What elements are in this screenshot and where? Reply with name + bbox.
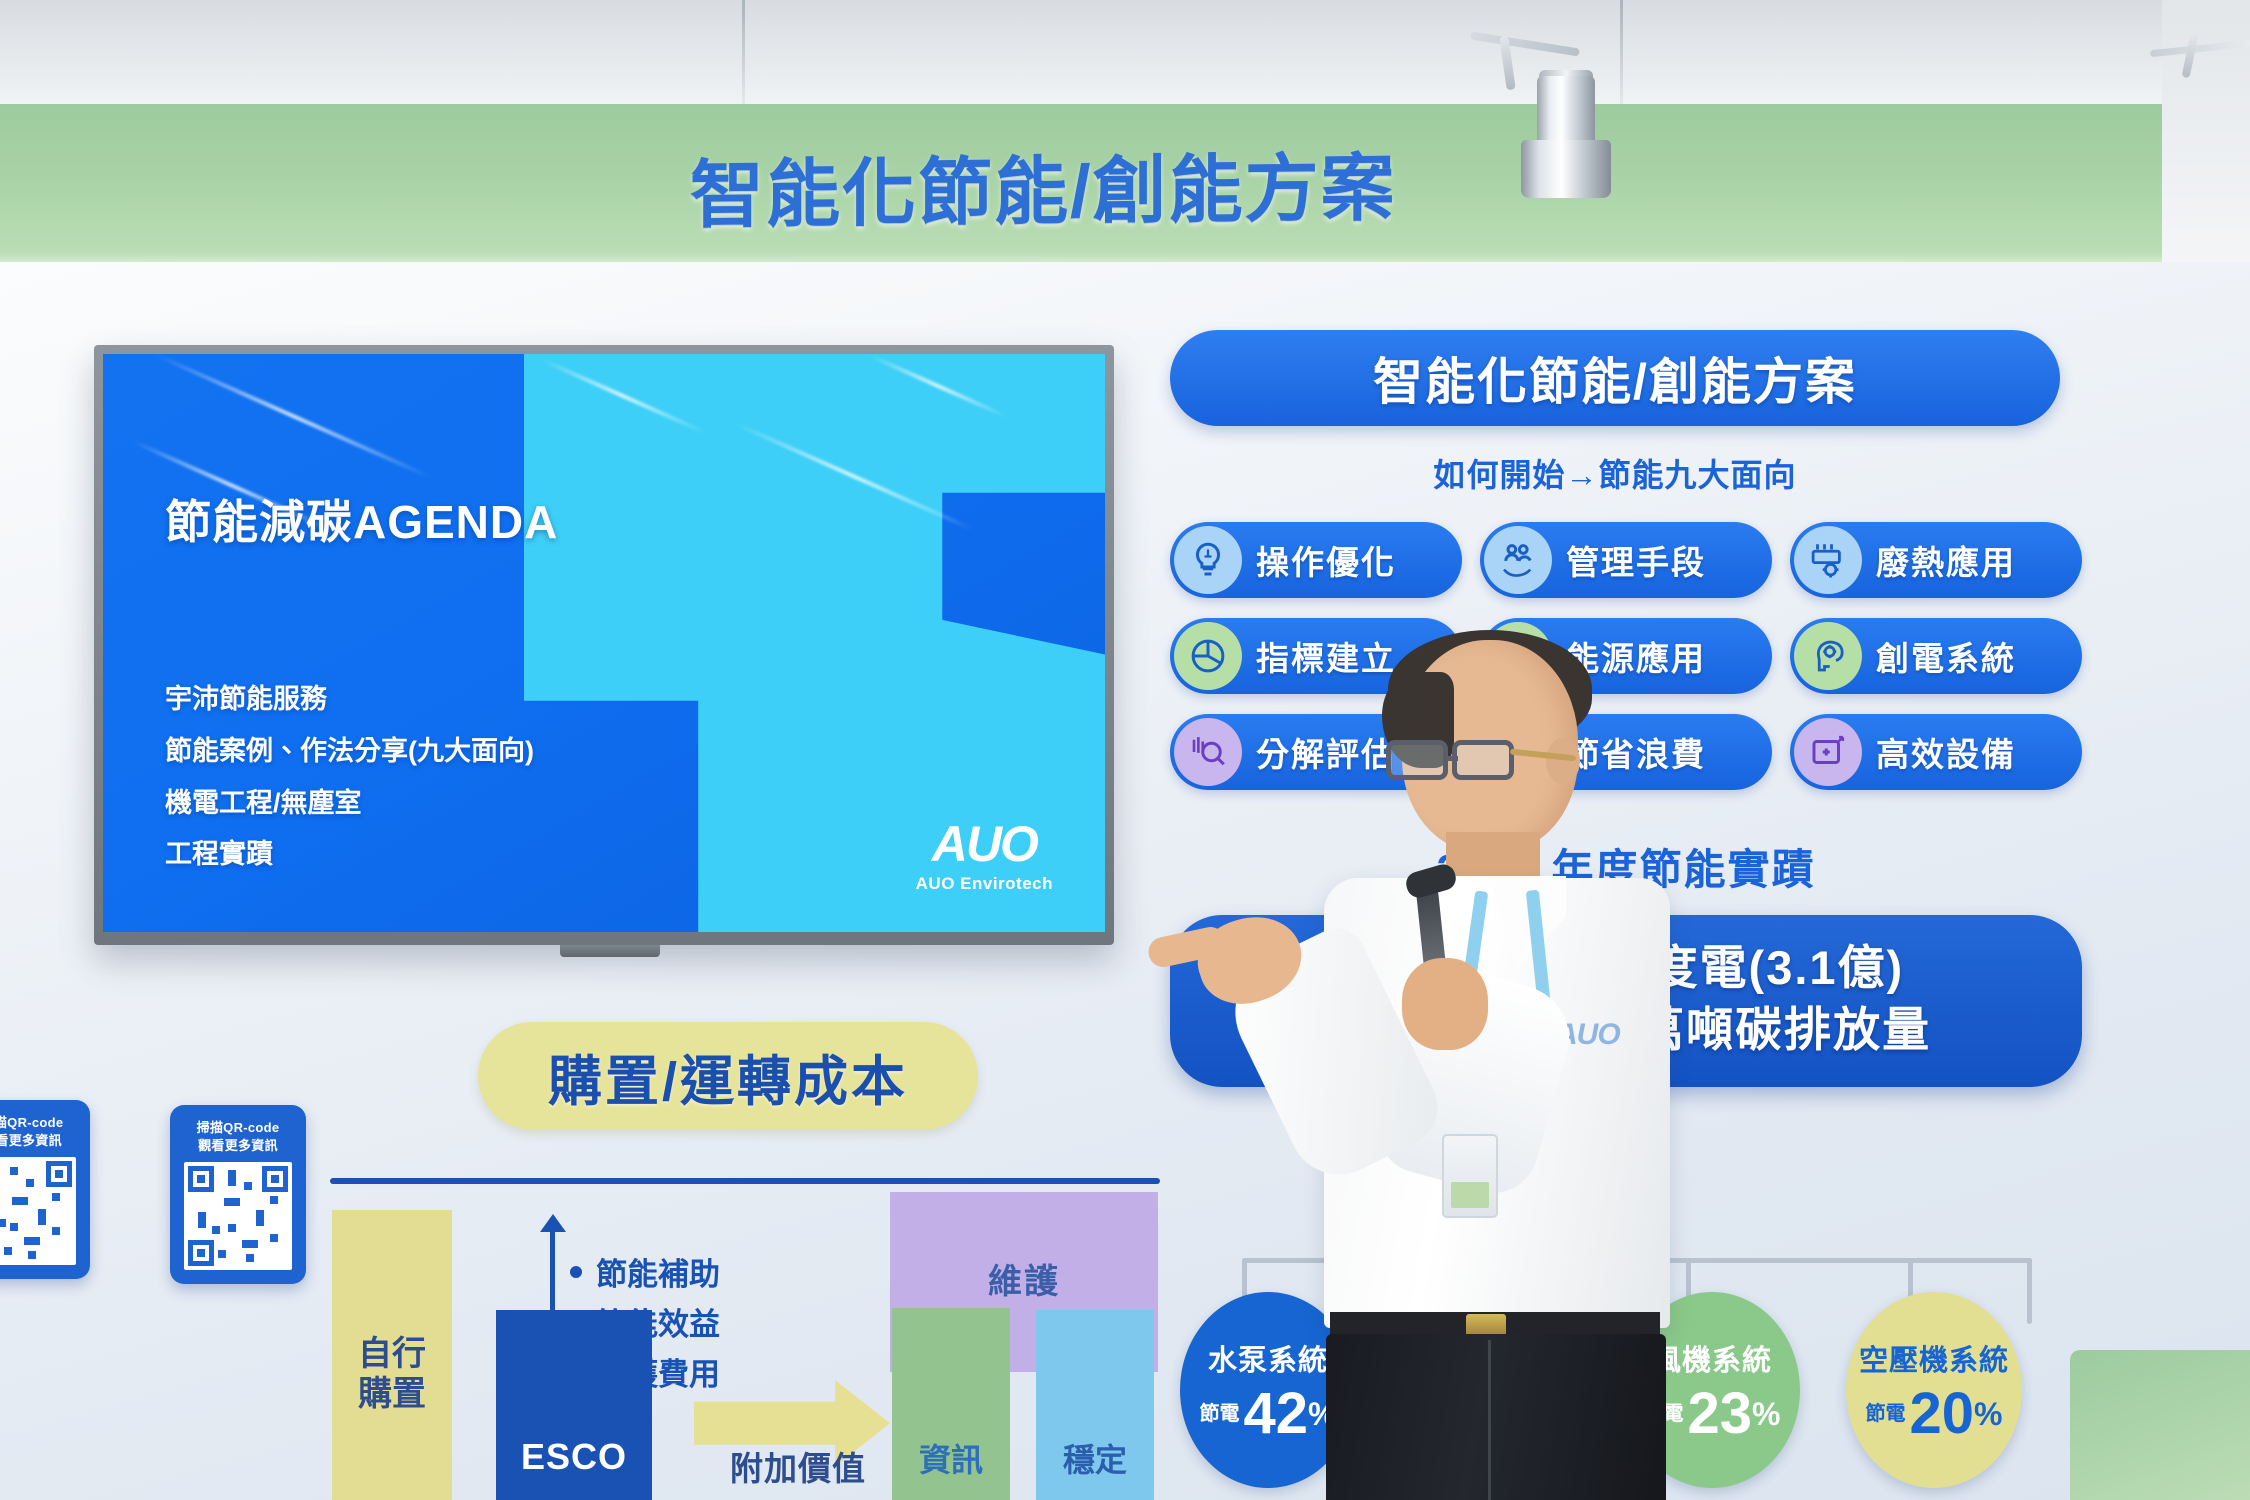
wall-seam bbox=[742, 0, 745, 112]
brain-gear-icon bbox=[1794, 622, 1862, 690]
cost-section-title: 購置/運轉成本 bbox=[548, 1037, 908, 1116]
slide-streak bbox=[155, 354, 431, 479]
cost-comparison-chart: 自行購置 ESCO 節能補助 節能效益 維護費用 維護 附加價值 資訊 穩定 bbox=[300, 1178, 1160, 1500]
presenter-trouser-seam bbox=[1488, 1340, 1491, 1500]
aspect-chip-efficient-equipment[interactable]: 高效設備 bbox=[1790, 714, 2082, 790]
savings-oval-air-compressor: 空壓機系統 節電 20 % bbox=[1846, 1292, 2022, 1488]
magnifier-data-icon bbox=[1174, 718, 1242, 786]
display-power-led bbox=[176, 938, 202, 943]
savings-metric-label: 節電 bbox=[1866, 1404, 1906, 1424]
presenter-glasses-bridge bbox=[1446, 756, 1458, 761]
chart-bar-label: 自行購置 bbox=[358, 1334, 426, 1414]
chart-top-rule bbox=[330, 1178, 1160, 1184]
presenter-left-hand bbox=[1402, 958, 1488, 1050]
slide-bullet-list: 宇沛節能服務 節能案例、作法分享(九大面向) 機電工程/無塵室 工程實蹟 bbox=[165, 674, 534, 881]
qr-caption-line-1: 掃描QR-code bbox=[0, 1114, 78, 1132]
wall-upper-panel bbox=[0, 0, 2250, 112]
arrow-shaft bbox=[550, 1228, 555, 1420]
aspect-chip-waste-heat[interactable]: 廢熱應用 bbox=[1790, 522, 2082, 598]
aspect-chip-label: 管理手段 bbox=[1566, 536, 1706, 584]
panel-plus-icon bbox=[1794, 718, 1862, 786]
chart-bullet-list: 節能補助 節能效益 維護費用 bbox=[566, 1250, 720, 1401]
auo-logo: AUO AUO Envirotech bbox=[916, 819, 1053, 894]
savings-system-name: 空壓機系統 bbox=[1859, 1337, 2009, 1379]
board-header-label: 智能化節能/創能方案 bbox=[1373, 342, 1857, 414]
presentation-display: 節能減碳AGENDA 宇沛節能服務 節能案例、作法分享(九大面向) 機電工程/無… bbox=[94, 345, 1114, 945]
savings-metric-label: 節電 bbox=[1200, 1404, 1240, 1424]
chart-bar-label: 維護 bbox=[988, 1262, 1060, 1302]
aspect-chip-label: 高效設備 bbox=[1876, 728, 2016, 776]
spotlight-body bbox=[1537, 76, 1595, 144]
qr-code-image bbox=[184, 1162, 292, 1270]
auo-logo-subtitle: AUO Envirotech bbox=[916, 874, 1053, 894]
slide-title: 節能減碳AGENDA bbox=[165, 486, 558, 552]
qr-code-image bbox=[0, 1157, 76, 1265]
floor-ledge bbox=[2070, 1350, 2250, 1500]
aspect-chip-power-generation[interactable]: 創電系統 bbox=[1790, 618, 2082, 694]
added-value-label: 附加價值 bbox=[698, 1442, 898, 1490]
savings-unit: % bbox=[1974, 1396, 2002, 1433]
slide-bullet: 宇沛節能服務 bbox=[165, 674, 534, 726]
people-hand-icon bbox=[1484, 526, 1552, 594]
chart-bar-stability: 穩定 bbox=[1036, 1310, 1154, 1500]
board-header-pill: 智能化節能/創能方案 bbox=[1170, 330, 2060, 426]
slide-bullet: 節能案例、作法分享(九大面向) bbox=[165, 726, 534, 778]
slide-bullet: 機電工程/無塵室 bbox=[165, 778, 534, 830]
exhibition-scene: 智能化節能/創能方案 節能減碳AGENDA 宇沛節能服務 節能案例、作法分享(九… bbox=[0, 0, 2250, 1500]
presenter-id-badge bbox=[1442, 1134, 1498, 1218]
auo-logo-wordmark: AUO bbox=[916, 819, 1053, 869]
savings-value-row: 節電 20 % bbox=[1866, 1385, 2003, 1443]
spotlight-head bbox=[1521, 140, 1611, 198]
qr-caption-line-2: 觀看更多資訊 bbox=[0, 1132, 78, 1150]
display-stand bbox=[560, 945, 660, 957]
chart-bar-self-purchase: 自行購置 bbox=[332, 1210, 452, 1500]
cost-section-title-pill: 購置/運轉成本 bbox=[478, 1022, 978, 1130]
slide-bullet: 工程實蹟 bbox=[165, 829, 534, 881]
presenter-belt-buckle bbox=[1466, 1314, 1506, 1336]
aspect-chip-label: 廢熱應用 bbox=[1876, 536, 2016, 584]
presenter: AUO bbox=[1270, 640, 1740, 1500]
pie-chart-icon bbox=[1174, 622, 1242, 690]
qr-caption-line-1: 掃描QR-code bbox=[182, 1119, 294, 1137]
wall-seam bbox=[1620, 0, 1623, 112]
aspect-chip-label: 創電系統 bbox=[1876, 632, 2016, 680]
savings-unit: % bbox=[1752, 1396, 1780, 1433]
chart-bar-label: 穩定 bbox=[1063, 1442, 1127, 1480]
presenter-trousers bbox=[1326, 1334, 1666, 1500]
presenter-ear bbox=[1546, 738, 1580, 784]
qr-card[interactable]: 掃描QR-code 觀看更多資訊 bbox=[0, 1100, 90, 1279]
display-screen: 節能減碳AGENDA 宇沛節能服務 節能案例、作法分享(九大面向) 機電工程/無… bbox=[103, 354, 1105, 932]
aspect-chip-label: 操作優化 bbox=[1256, 536, 1396, 584]
aspect-chip-operation-optimization[interactable]: 操作優化 bbox=[1170, 522, 1462, 598]
lightbulb-icon bbox=[1174, 526, 1242, 594]
savings-value: 20 bbox=[1910, 1385, 1975, 1443]
qr-card[interactable]: 掃描QR-code 觀看更多資訊 bbox=[170, 1105, 306, 1284]
chart-bullet: 節能效益 bbox=[566, 1300, 720, 1350]
aspect-chip-management-method[interactable]: 管理手段 bbox=[1480, 522, 1772, 598]
presenter-glasses-right-lens bbox=[1452, 740, 1514, 780]
board-subtitle: 如何開始→節能九大面向 bbox=[1170, 450, 2060, 496]
venue-banner-title: 智能化節能/創能方案 bbox=[690, 128, 1397, 242]
chart-bullet: 節能補助 bbox=[566, 1250, 720, 1300]
chart-bar-label: 資訊 bbox=[919, 1442, 983, 1480]
chart-bullet: 維護費用 bbox=[566, 1350, 720, 1400]
chart-bar-information: 資訊 bbox=[892, 1308, 1010, 1500]
factory-gear-icon bbox=[1794, 526, 1862, 594]
arrow-down-icon bbox=[540, 1406, 566, 1424]
qr-caption-line-2: 觀看更多資訊 bbox=[182, 1137, 294, 1155]
presenter-glasses-left-lens bbox=[1386, 740, 1448, 780]
